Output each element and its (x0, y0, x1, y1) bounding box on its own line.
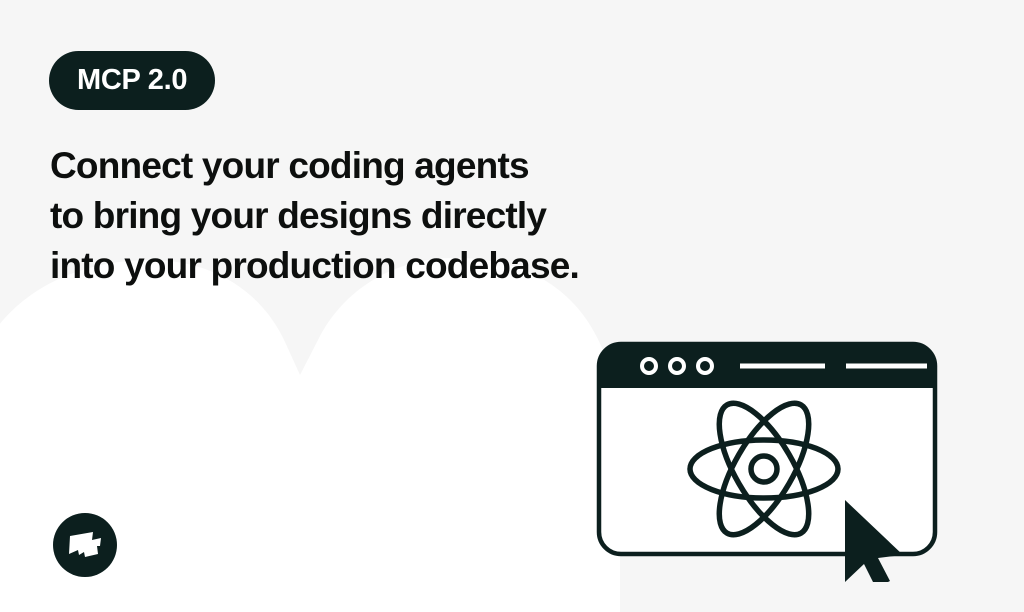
brand-logo[interactable] (53, 513, 117, 577)
promo-card: MCP 2.0 Connect your coding agents to br… (0, 0, 1024, 612)
badge-label: MCP 2.0 (77, 66, 187, 95)
headline-line-2: to bring your designs directly (50, 191, 670, 241)
headline-line-1: Connect your coding agents (50, 141, 670, 191)
headline-line-3: into your production codebase. (50, 241, 670, 291)
browser-window-illustration (592, 332, 942, 582)
headline: Connect your coding agents to bring your… (50, 141, 670, 291)
mcp-version-badge: MCP 2.0 (49, 51, 215, 110)
